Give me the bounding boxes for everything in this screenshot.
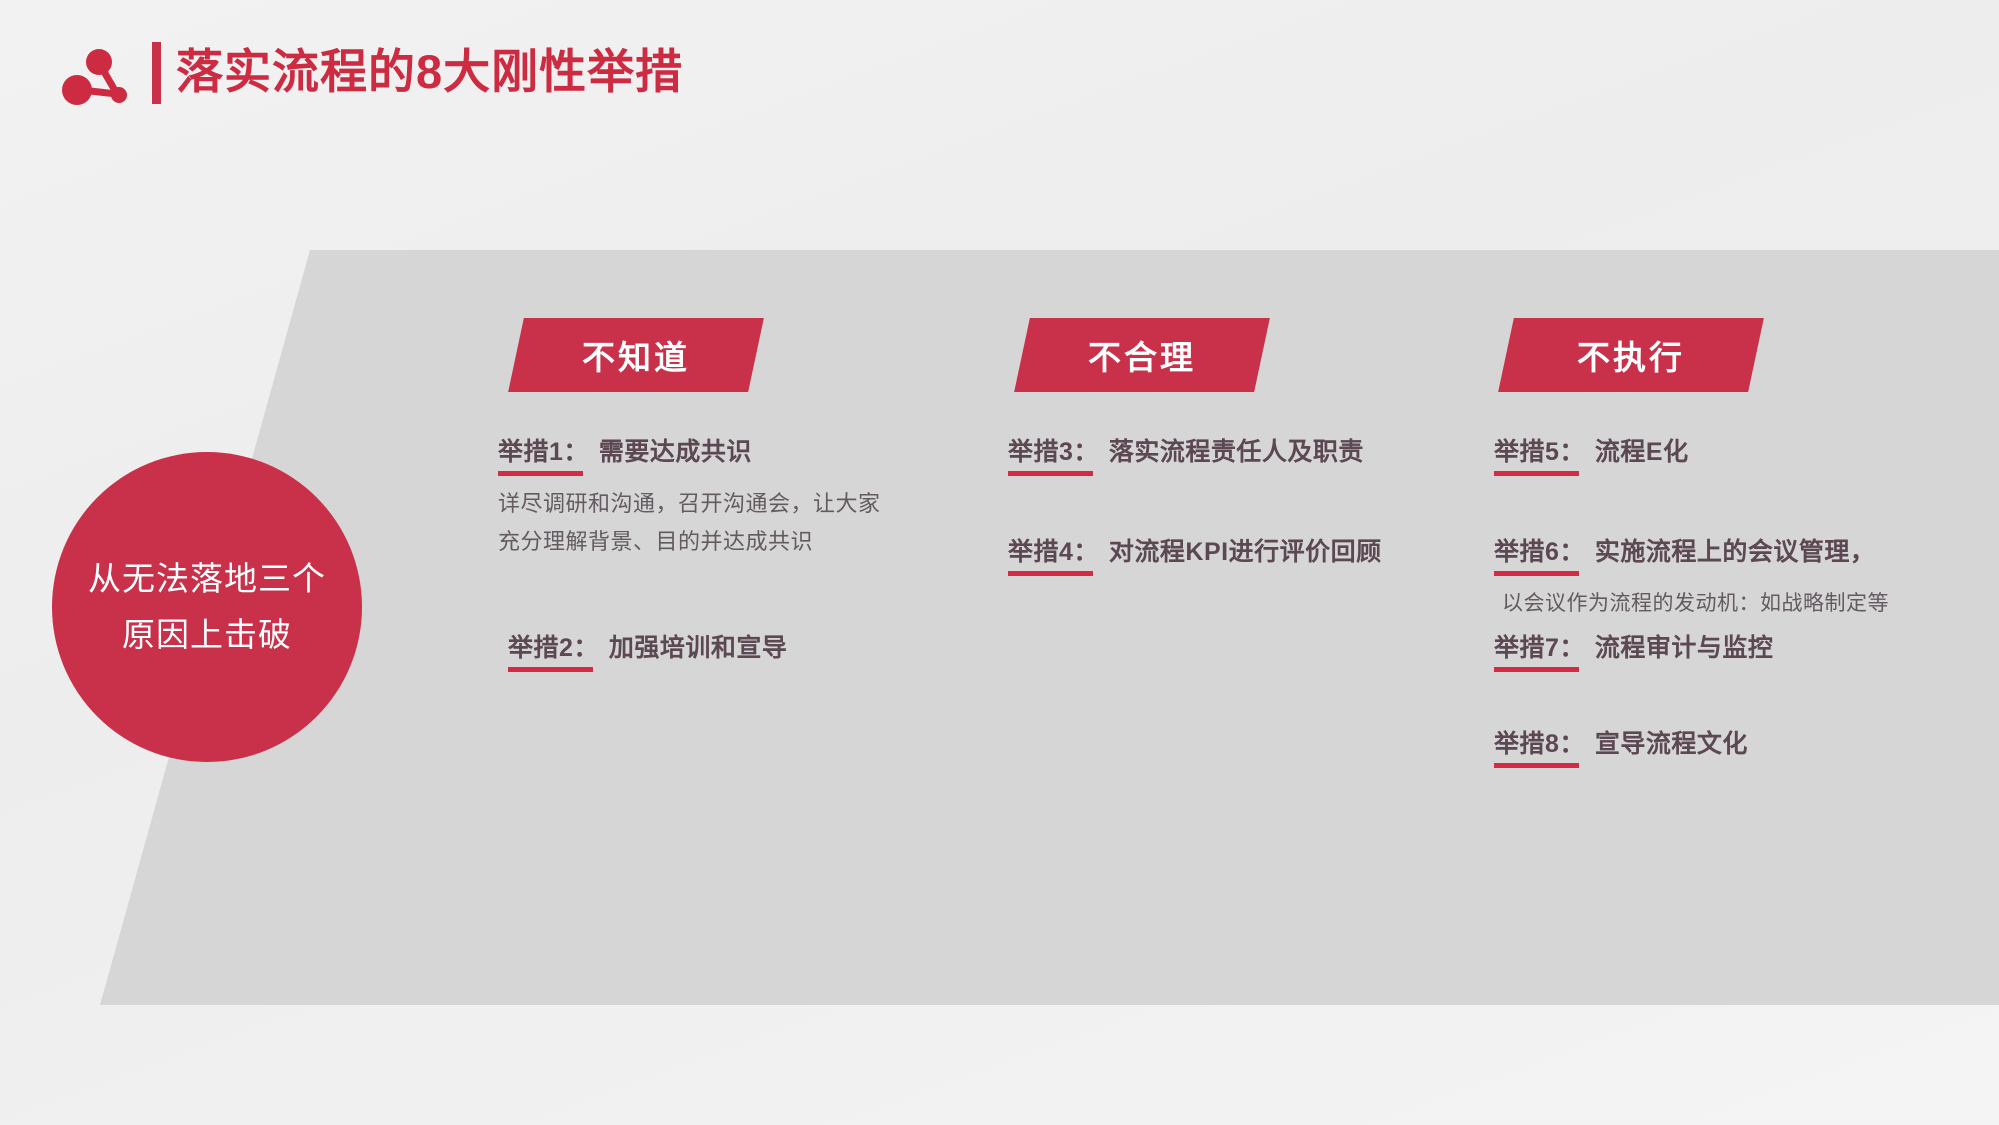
measure-title: 流程E化 bbox=[1595, 438, 1689, 466]
measure-label: 举措3： bbox=[1008, 432, 1099, 476]
measure-heading: 举措5：流程E化 bbox=[1494, 432, 1974, 476]
summary-circle: 从无法落地三个 原因上击破 bbox=[52, 452, 362, 762]
measure-title: 流程审计与监控 bbox=[1595, 634, 1774, 662]
summary-circle-line-2: 原因上击破 bbox=[122, 607, 292, 663]
measure-title: 加强培训和宣导 bbox=[609, 634, 788, 662]
column-不知道: 不知道 举措1：需要达成共识 详尽调研和沟通，召开沟通会，让大家充分理解背景、目… bbox=[498, 318, 928, 432]
column-banner[interactable]: 不知道 bbox=[508, 318, 764, 392]
measure-label: 举措7： bbox=[1494, 628, 1585, 672]
column-banner-label: 不合理 bbox=[1088, 331, 1196, 379]
measure-item[interactable]: 举措1：需要达成共识 详尽调研和沟通，召开沟通会，让大家充分理解背景、目的并达成… bbox=[498, 432, 928, 561]
title-divider-bar bbox=[152, 42, 161, 104]
page-title: 落实流程的8大刚性举措 bbox=[176, 40, 683, 104]
measure-item[interactable]: 举措2：加强培训和宣导 bbox=[498, 628, 928, 672]
column-不执行: 不执行 举措5：流程E化 举措6：实施流程上的会议管理， 以会议作为流程的发动机… bbox=[1494, 318, 1974, 432]
column-banner[interactable]: 不合理 bbox=[1014, 318, 1270, 392]
measure-item[interactable]: 举措6：实施流程上的会议管理， 以会议作为流程的发动机：如战略制定等 bbox=[1494, 532, 1974, 623]
measure-title: 对流程KPI进行评价回顾 bbox=[1109, 538, 1382, 566]
measure-heading: 举措4：对流程KPI进行评价回顾 bbox=[1008, 532, 1458, 576]
measure-description: 详尽调研和沟通，召开沟通会，让大家充分理解背景、目的并达成共识 bbox=[498, 485, 888, 561]
measure-item[interactable]: 举措4：对流程KPI进行评价回顾 bbox=[1008, 532, 1458, 576]
measure-item[interactable]: 举措8：宣导流程文化 bbox=[1494, 724, 1974, 768]
column-不合理: 不合理 举措3：落实流程责任人及职责 举措4：对流程KPI进行评价回顾 bbox=[1008, 318, 1458, 432]
column-banner-label: 不知道 bbox=[582, 331, 690, 379]
measure-title: 落实流程责任人及职责 bbox=[1109, 438, 1364, 466]
measure-title: 需要达成共识 bbox=[599, 438, 752, 466]
measure-label: 举措2： bbox=[508, 628, 599, 672]
measure-label: 举措5： bbox=[1494, 432, 1585, 476]
column-banner-label: 不执行 bbox=[1577, 331, 1685, 379]
measure-title: 宣导流程文化 bbox=[1595, 730, 1748, 758]
measure-label: 举措8： bbox=[1494, 724, 1585, 768]
measure-heading: 举措3：落实流程责任人及职责 bbox=[1008, 432, 1458, 476]
measure-heading: 举措7：流程审计与监控 bbox=[1494, 628, 1974, 672]
measure-label: 举措4： bbox=[1008, 532, 1099, 576]
measure-item[interactable]: 举措5：流程E化 bbox=[1494, 432, 1974, 476]
network-node-icon bbox=[55, 48, 141, 108]
measure-label: 举措6： bbox=[1494, 532, 1585, 576]
column-banner[interactable]: 不执行 bbox=[1498, 318, 1764, 392]
measure-item[interactable]: 举措3：落实流程责任人及职责 bbox=[1008, 432, 1458, 476]
summary-circle-line-1: 从无法落地三个 bbox=[88, 551, 326, 607]
measure-title: 实施流程上的会议管理， bbox=[1595, 538, 1876, 566]
measure-heading: 举措8：宣导流程文化 bbox=[1494, 724, 1974, 768]
measure-heading: 举措2：加强培训和宣导 bbox=[498, 628, 928, 672]
measure-description: 以会议作为流程的发动机：如战略制定等 bbox=[1494, 585, 1974, 623]
page-header: 落实流程的8大刚性举措 bbox=[0, 0, 1999, 150]
measure-heading: 举措1：需要达成共识 bbox=[498, 432, 928, 476]
measure-label: 举措1： bbox=[498, 432, 589, 476]
measure-item[interactable]: 举措7：流程审计与监控 bbox=[1494, 628, 1974, 672]
measure-heading: 举措6：实施流程上的会议管理， bbox=[1494, 532, 1974, 576]
